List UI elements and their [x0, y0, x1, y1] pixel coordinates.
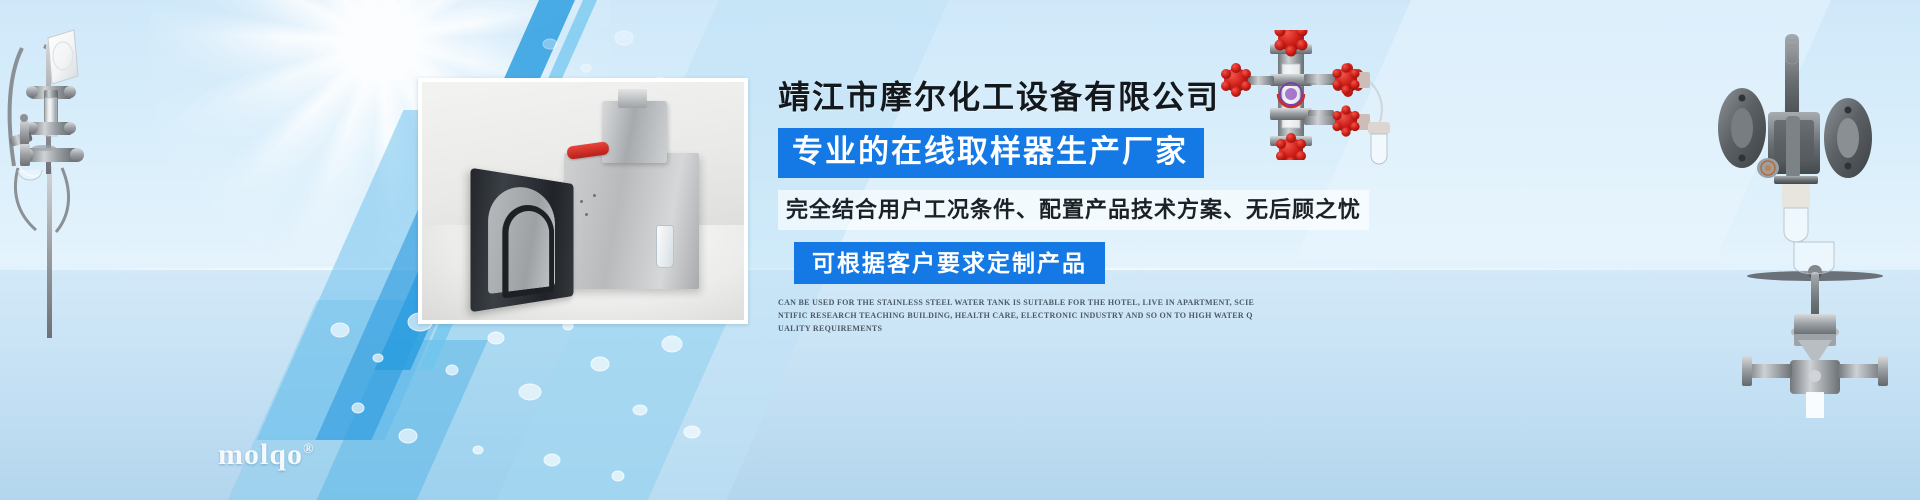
right-product-lever-handle-valve — [1690, 20, 1890, 250]
center-product-photo — [418, 78, 748, 324]
sub-headline: 完全结合用户工况条件、配置产品技术方案、无后顾之忧 — [778, 190, 1369, 230]
promotional-banner: 靖江市摩尔化工设备有限公司 专业的在线取样器生产厂家 完全结合用户工况条件、配置… — [0, 0, 1920, 500]
photo-cabinet-body — [564, 153, 699, 289]
photo-door-gasket — [502, 203, 554, 299]
photo-content — [422, 82, 744, 320]
left-product-online-sampler-assembly — [0, 18, 190, 338]
customization-badge: 可根据客户要求定制产品 — [794, 242, 1105, 284]
english-description: CAN BE USED FOR THE STAINLESS STEEL WATE… — [778, 296, 1178, 335]
english-line-2: NTIFIC RESEARCH TEACHING BUILDING, HEALT… — [778, 309, 1178, 322]
headline-badge: 专业的在线取样器生产厂家 — [778, 128, 1204, 178]
water-droplets — [300, 300, 720, 500]
banner-text-block: 靖江市摩尔化工设备有限公司 专业的在线取样器生产厂家 完全结合用户工况条件、配置… — [778, 76, 1398, 335]
english-line-3: UALITY REQUIREMENTS — [778, 322, 1178, 335]
right-product-wheel-handle-valve — [1720, 228, 1910, 418]
registered-mark: ® — [303, 442, 314, 457]
watermark-text: molqo — [218, 438, 303, 471]
english-line-1: CAN BE USED FOR THE STAINLESS STEEL WATE… — [778, 296, 1178, 309]
photo-sample-bottle — [656, 225, 674, 268]
photo-valve-head — [602, 101, 666, 163]
photo-cabinet-door — [470, 168, 573, 313]
company-name: 靖江市摩尔化工设备有限公司 — [778, 76, 1398, 118]
brand-watermark: molqo® — [218, 438, 314, 472]
photo-valve-top — [618, 89, 647, 108]
